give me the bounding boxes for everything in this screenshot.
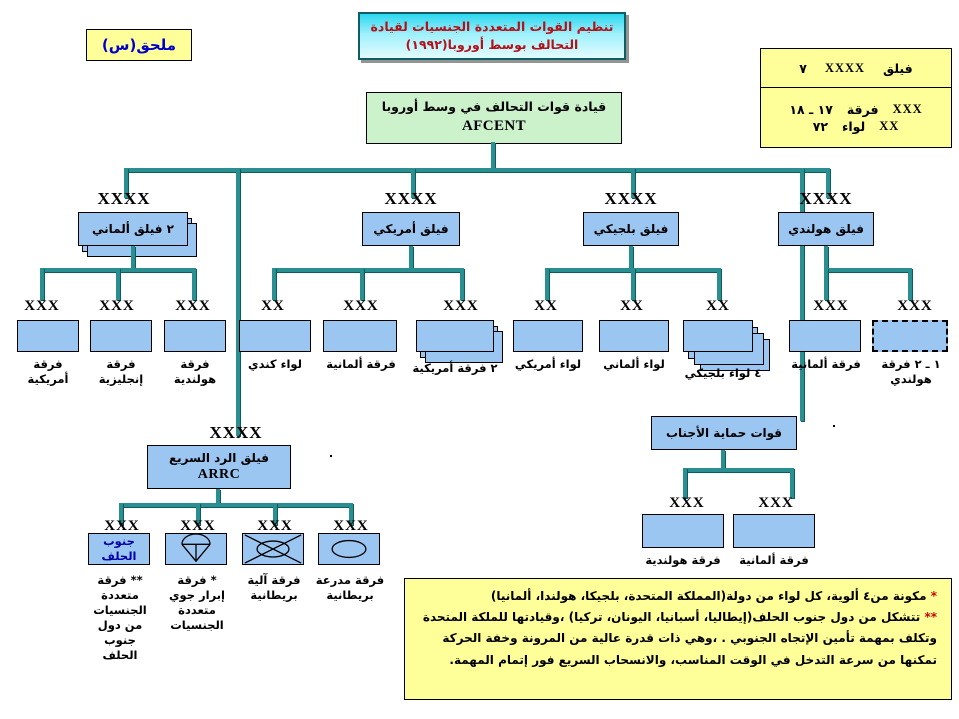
corps-label-belgian: فيلق بلجيكي (594, 222, 669, 237)
echelon-mark-arrc: XXXX (196, 424, 276, 441)
legend-brigade-symbol: XX (879, 119, 899, 134)
flank-unit-box-1[interactable] (642, 514, 724, 548)
legend-box: فيلق XXXX ٧ XXX فرقة ١٧ ـ ١٨ XX لواء ٧٢ (760, 48, 952, 148)
chart-title-line1: تنظيم القوات المتعددة الجنسيات لقيادة (371, 19, 614, 34)
connector-belgian-sub-3 (717, 268, 721, 300)
arrc-unit-caption-3: فرقة آلية بريطانية (232, 573, 316, 603)
echelon-mark-unit-9: XX (696, 299, 740, 314)
connector-american-sub-3 (460, 268, 464, 300)
footnote-2-line-b: وتكلف بمهمة تأمين الإتجاه الجنوبي . ،وهي… (419, 629, 937, 648)
echelon-mark-unit-2: XXX (91, 299, 143, 314)
unit-caption-2: فرقة إنجليزية (86, 357, 156, 387)
arrc-unit-inner-line2: الحلف (102, 549, 137, 564)
unit-box-4[interactable] (239, 320, 311, 352)
legend-corps-count: ٧ (799, 61, 807, 76)
echelon-mark-unit-8: XX (610, 299, 654, 314)
echelon-mark-corps-1: XXXX (84, 190, 164, 207)
unit-box-5[interactable] (323, 320, 397, 352)
connector-american-sub-2 (360, 268, 364, 300)
connector-dutch-sub-2 (908, 268, 912, 300)
connector-german-sub-2 (116, 268, 120, 300)
connector-dutch-down (824, 246, 828, 270)
connector-hq-down (491, 142, 495, 170)
echelon-mark-arrc-unit-1: XXX (96, 519, 148, 534)
connector-dutch-bus (824, 268, 910, 272)
footnotes-panel: * مكونة من٤ ألوية، كل لواء من دولة(الممل… (404, 578, 952, 700)
echelon-mark-unit-4: XX (251, 299, 295, 314)
org-chart-canvas: ملحق(س) تنظيم القوات المتعددة الجنسيات ل… (0, 0, 959, 719)
unit-caption-5: فرقة ألمانية (316, 357, 406, 372)
legend-row-lower: XXX فرقة ١٧ ـ ١٨ XX لواء ٧٢ (761, 87, 951, 147)
echelon-mark-corps-4: XXXX (786, 190, 866, 207)
armored-icon (319, 534, 379, 564)
mechanized-infantry-icon (243, 534, 303, 564)
echelon-mark-unit-3: XXX (167, 299, 219, 314)
connector-belgian-down (629, 246, 633, 270)
afcent-hq-english: AFCENT (462, 116, 526, 136)
echelon-mark-arrc-unit-4: XXX (325, 519, 377, 534)
unit-box-2[interactable] (90, 320, 152, 352)
connector-flank-down (721, 450, 725, 470)
connector-american-sub-1 (272, 268, 276, 300)
echelon-mark-corps-3: XXXX (591, 190, 671, 207)
unit-caption-8: لواء ألماني (593, 357, 675, 372)
connector-german-down (131, 246, 135, 270)
echelon-mark-flank-unit-1: XXX (661, 496, 713, 511)
footnote-1: * مكونة من٤ ألوية، كل لواء من دولة(الممل… (419, 587, 937, 606)
connector-flank-bus (683, 468, 793, 472)
connector-corps-bus (124, 168, 828, 172)
unit-box-1[interactable] (17, 320, 79, 352)
flank-forces-label: قوات حماية الأجناب (666, 426, 782, 441)
footnote-2-text-a: تتشكل من دول جنوب الحلف(إيطاليا، أسبانيا… (423, 610, 920, 624)
legend-division-label: فرقة (847, 102, 879, 117)
legend-corps-symbol: XXXX (825, 61, 865, 76)
arrc-unit-caption-2: * فرقة إبرار جوي متعددة الجنسيات (155, 573, 239, 633)
connector-flank-sub-2 (790, 468, 794, 498)
footnote-2-line-a: ** تتشكل من دول جنوب الحلف(إيطاليا، أسبا… (419, 608, 937, 627)
unit-box-11[interactable] (872, 320, 948, 352)
arrc-label-arabic: فيلق الرد السريع (169, 451, 269, 466)
connector-dutch-sub-1 (824, 268, 828, 300)
arrc-unit-box-armored[interactable] (318, 533, 380, 565)
echelon-mark-arrc-unit-3: XXX (249, 519, 301, 534)
stray-mark-2 (833, 425, 835, 427)
echelon-mark-unit-5: XXX (335, 299, 387, 314)
connector-to-arrc (236, 168, 240, 436)
legend-row-division: XXX فرقة ١٧ ـ ١٨ (771, 102, 941, 117)
footnote-1-marker: * (931, 589, 937, 603)
connector-german-sub-3 (192, 268, 196, 300)
annex-label: ملحق(س) (86, 29, 192, 61)
legend-brigade-label: لواء (842, 119, 865, 134)
flank-forces-box[interactable]: قوات حماية الأجناب (651, 416, 797, 450)
unit-caption-7: لواء أمريكي (507, 357, 589, 372)
legend-brigade-count: ٧٢ (813, 119, 828, 134)
unit-caption-6: ٢ فرقة أمريكية (405, 361, 505, 376)
arrc-unit-caption-1: ** فرقة متعددة الجنسيات من دول جنوب الحل… (78, 573, 162, 663)
corps-label-dutch: فيلق هولندي (788, 222, 864, 237)
legend-division-count: ١٧ ـ ١٨ (789, 102, 833, 117)
connector-belgian-sub-2 (631, 268, 635, 300)
corps-label-american: فيلق أمريكي (373, 222, 448, 237)
echelon-mark-unit-1: XXX (16, 299, 68, 314)
echelon-mark-unit-11: XXX (889, 299, 941, 314)
echelon-mark-corps-2: XXXX (371, 190, 451, 207)
unit-box-10[interactable] (789, 320, 861, 352)
unit-box-3[interactable] (164, 320, 226, 352)
echelon-mark-unit-7: XX (524, 299, 568, 314)
unit-caption-9: ٤ لواء بلجيكي (673, 366, 773, 381)
corps-box-american[interactable]: فيلق أمريكي (362, 212, 460, 246)
corps-label-german: ٢ فيلق ألماني (92, 222, 174, 237)
footnote-2-line-c: تمكنها من سرعة التدخل في الوقت المناسب، … (419, 651, 937, 670)
chart-title-line2: التحالف بوسط أوروبا(١٩٩٢) (406, 37, 579, 52)
unit-caption-10: فرقة ألمانية (783, 357, 869, 372)
echelon-mark-unit-6: XXX (435, 299, 487, 314)
legend-row-corps: فيلق XXXX ٧ (761, 49, 951, 87)
chart-title: تنظيم القوات المتعددة الجنسيات لقيادة ال… (358, 12, 626, 60)
stray-mark-1 (330, 455, 332, 457)
connector-american-down (409, 246, 413, 270)
echelon-mark-unit-10: XXX (805, 299, 857, 314)
arrc-unit-inner-line1: جنوب (103, 534, 135, 549)
airborne-parachute-icon (166, 534, 226, 564)
unit-caption-11: ١ ـ ٢ فرقة هولندي (866, 357, 956, 387)
arrc-unit-caption-4: فرقة مدرعة بريطانية (308, 573, 392, 603)
unit-box-9[interactable] (683, 320, 753, 352)
connector-american-bus (272, 268, 464, 272)
arrc-label-english: ARRC (198, 466, 240, 484)
echelon-mark-arrc-unit-2: XXX (172, 519, 224, 534)
unit-caption-1: فرقة أمريكية (13, 357, 83, 387)
corps-box-dutch[interactable]: فيلق هولندي (778, 212, 874, 246)
connector-arrc-bus (119, 503, 351, 507)
corps-box-german[interactable]: ٢ فيلق ألماني (78, 212, 188, 246)
afcent-hq-box: قيادة قوات التحالف في وسط أوروبا AFCENT (366, 92, 622, 144)
arrc-corps-box[interactable]: فيلق الرد السريع ARRC (147, 445, 291, 489)
unit-caption-4: لواء كندي (235, 357, 315, 372)
arrc-unit-box-airborne[interactable] (165, 533, 227, 565)
corps-box-belgian[interactable]: فيلق بلجيكي (583, 212, 679, 246)
unit-box-8[interactable] (599, 320, 669, 352)
flank-unit-caption-1: فرقة هولندية (637, 553, 729, 568)
unit-box-6[interactable] (416, 320, 494, 352)
arrc-unit-box-mechanized[interactable] (242, 533, 304, 565)
legend-corps-label: فيلق (883, 61, 913, 76)
flank-unit-caption-2: فرقة ألمانية (728, 553, 820, 568)
echelon-mark-flank-unit-2: XXX (750, 496, 802, 511)
connector-flank-sub-1 (683, 468, 687, 498)
arrc-unit-box-south-flank-text: جنوب الحلف (89, 534, 149, 564)
afcent-hq-arabic: قيادة قوات التحالف في وسط أوروبا (382, 99, 606, 116)
footnote-1-text: مكونة من٤ ألوية، كل لواء من دولة(المملكة… (491, 589, 927, 603)
arrc-unit-box-south-flank[interactable]: جنوب الحلف (88, 533, 150, 565)
footnote-2-marker: ** (924, 610, 937, 624)
flank-unit-box-2[interactable] (733, 514, 815, 548)
legend-division-symbol: XXX (893, 102, 923, 117)
unit-box-7[interactable] (513, 320, 583, 352)
unit-caption-3: فرقة هولندية (160, 357, 230, 387)
connector-german-sub-1 (40, 268, 44, 300)
legend-row-brigade: XX لواء ٧٢ (771, 119, 941, 134)
connector-belgian-sub-1 (545, 268, 549, 300)
